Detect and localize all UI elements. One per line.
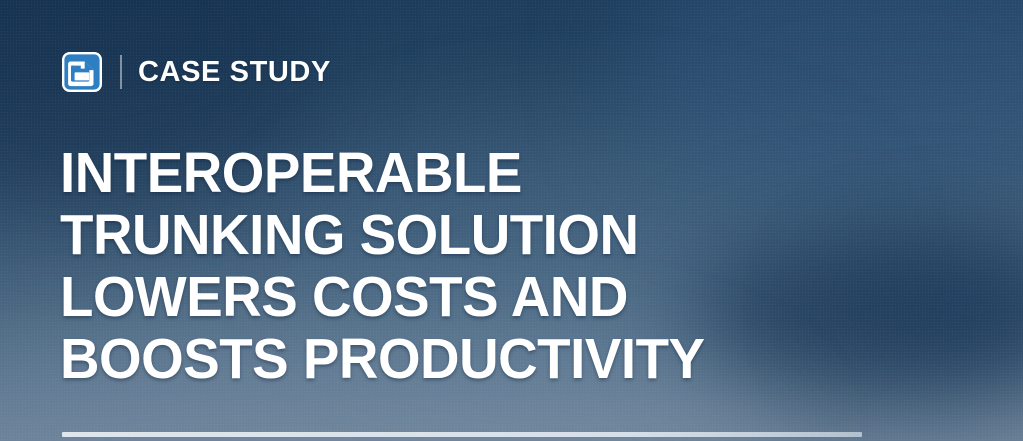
eyebrow-label: CASE STUDY <box>138 58 331 87</box>
case-study-cover: CASE STUDY INTEROPERABLE TRUNKING SOLUTI… <box>0 0 1023 441</box>
bottom-divider-rule <box>62 432 862 437</box>
document-icon <box>62 52 102 92</box>
eyebrow-divider <box>120 55 122 89</box>
headline-line-3: LOWERS COSTS AND <box>60 266 924 328</box>
headline-line-4: BOOSTS PRODUCTIVITY <box>60 328 924 390</box>
eyebrow-row: CASE STUDY <box>62 50 331 94</box>
cover-content: CASE STUDY INTEROPERABLE TRUNKING SOLUTI… <box>0 0 1023 441</box>
headline-line-1: INTEROPERABLE <box>60 142 924 204</box>
page-title: INTEROPERABLE TRUNKING SOLUTION LOWERS C… <box>60 142 960 390</box>
headline-line-2: TRUNKING SOLUTION <box>60 204 924 266</box>
